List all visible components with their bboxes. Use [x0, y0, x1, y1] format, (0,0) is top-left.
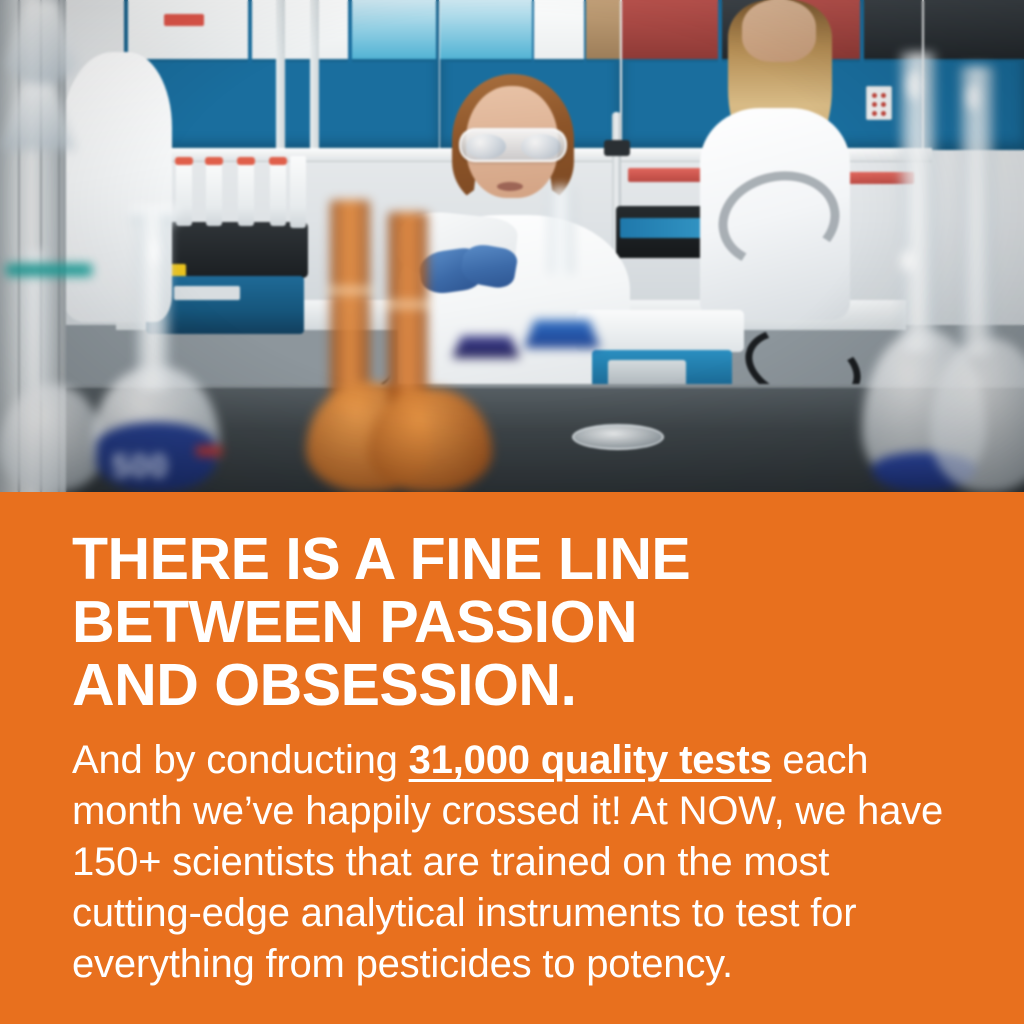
volumetric-flask-neck: [960, 66, 994, 356]
foreground-glassware: 500: [0, 0, 1024, 492]
erlenmeyer-body: [0, 84, 76, 150]
erlenmeyer-neck: [548, 186, 574, 274]
amber-flask-neck: [330, 200, 370, 410]
promo-card: 500 THERE I: [0, 0, 1024, 1024]
volumetric-flask-body: [0, 384, 104, 492]
body-copy-emphasis: 31,000 quality tests: [409, 738, 772, 782]
body-copy: And by conducting 31,000 quality tests e…: [72, 735, 952, 990]
erlenmeyer-blue-liquid: [524, 320, 600, 348]
amber-flask-neck: [388, 212, 428, 414]
orange-text-panel: THERE IS A FINE LINE BETWEEN PASSION AND…: [0, 492, 1024, 1024]
headline-line-3: AND OBSESSION.: [72, 654, 952, 717]
erlenmeyer-body: [0, 0, 84, 84]
headline-line-1: THERE IS A FINE LINE: [72, 528, 952, 591]
headline: THERE IS A FINE LINE BETWEEN PASSION AND…: [72, 528, 952, 717]
flask-red-mark: [196, 446, 222, 456]
lab-photo: 500: [0, 0, 1024, 492]
erlenmeyer-blue-liquid: [452, 336, 520, 358]
flask-teal-band: [58, 264, 92, 276]
headline-line-2: BETWEEN PASSION: [72, 591, 952, 654]
body-copy-part-1: And by conducting: [72, 738, 409, 782]
flask-teal-band: [6, 264, 66, 276]
flask-volume-label: 500: [112, 448, 198, 482]
